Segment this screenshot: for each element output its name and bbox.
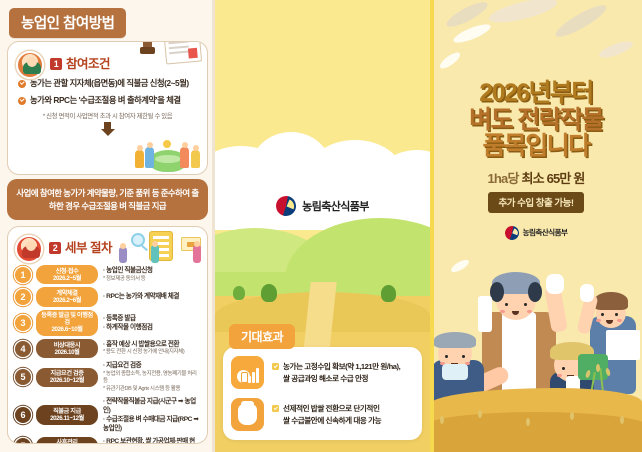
left-panel-title: 농업인 참여방법 [9,8,126,38]
step-row: 3 등록증 발급 및 이행점검 2026.6~10월 등록증 발급 하계작물 이… [15,310,200,336]
step-pill: 지급요건 검증 2026.10~12월 [36,368,98,387]
farmer-glove [546,274,564,294]
steps-list: 1 신청·접수 2026.2~5월 농업인 직불금신청 정보제공 동의서 등 2… [15,265,200,444]
rice-grain-icon [552,0,609,41]
condition-bullets: 농가는 관할 지자체(읍면동)에 직불금 신청(2~5월) 농가와 RPC는 '… [16,78,199,106]
step-number: 1 [15,267,31,283]
section2-header: 2세부 절차 [15,233,200,259]
condition-text: 농가와 RPC는 '수급조절용 벼 출하계약'을 체결 [30,95,181,106]
rice-ear [596,364,600,372]
step-description: 전략작물직불금 지급(시군구 ➡ 농업인) 수급조절용 벼 수매대금 지급(RP… [103,397,200,434]
headline-line-3: 품목입니다 [430,133,642,160]
step-row: 6 직불금 지급 2026.11~12월 전략작물직불금 지급(시군구 ➡ 농업… [15,397,200,434]
farmer-scarf [442,364,468,380]
farmer-hair [594,292,628,310]
check-icon [272,363,279,370]
payment-banner: 사업에 참여한 농가가 계약물량, 기준 품위 등 준수하여 출하한 경우 수급… [7,179,208,220]
step-pill: 사후관리 연중 [36,437,98,445]
step-row: 2 계약체결 2026.2~6월 RPC는 농가와 계약재배 체결 [15,287,200,306]
farmer-avatar-icon [16,51,44,79]
rice-grain-icon [487,0,559,27]
step-number: 6 [15,407,31,423]
step-number: 7 [15,438,31,444]
section1-heading: 참여조건 [66,57,110,71]
farmer-headscarf [434,332,476,348]
rice-ear [440,416,444,424]
step-description: 농업인 직불금신청 정보제공 동의서 등 [103,266,200,283]
effects-title: 기대효과 [229,324,295,349]
farmer-hair [490,282,504,302]
section2-heading: 세부 절차 [65,241,112,255]
effects-card: 농가는 고정수입 확보(약 1,121만 원/ha), 쌀 공급과잉 해소로 수… [223,347,422,440]
rice-ear [620,416,624,424]
section1-header: 1참여조건 [16,49,199,75]
effect-item: 선제적인 밥쌀 전환으로 단기적인 쌀 수급불안에 신속하게 대응 가능 [231,398,414,431]
taegeuk-icon [274,194,298,218]
check-icon [18,80,26,88]
effect-text: 선제적인 밥쌀 전환으로 단기적인 쌀 수급불안에 신속하게 대응 가능 [272,403,381,426]
step-description: 흉작 예상 시 밥쌀용으로 전환 용도 전환 시 신청 농가에 안내(지자체) [103,340,200,357]
section2-title: 2세부 절차 [49,233,112,256]
rice-ear [478,410,482,418]
money-chart-icon [231,356,264,389]
tree-shape [261,284,277,302]
step-number: 3 [15,315,31,331]
step-row: 4 비상대응시 2026.10월 흉작 예상 시 밥쌀용으로 전환 용도 전환 … [15,339,200,358]
condition-bullet: 농가는 관할 지자체(읍면동)에 직불금 신청(2~5월) [18,78,199,89]
headline-line-1: 2026년부터 [430,80,642,107]
hero-headline: 2026년부터 벼도 전략작물 품목입니다 1ha당 최소 65만 원 추가 수… [430,80,642,240]
rice-grain-icon [438,50,463,71]
condition-note: * 신청 면적이 사업면적 초과 시 참여자 제한될 수 있음 [16,111,199,120]
farmer-avatar-icon [15,235,43,263]
condition-bullet: 농가와 RPC는 '수급조절용 벼 출하계약'을 체결 [18,95,199,106]
step-row: 1 신청·접수 2026.2~5월 농업인 직불금신청 정보제공 동의서 등 [15,265,200,284]
step-pill: 계약체결 2026.2~6월 [36,287,98,306]
rice-grain-icon [597,38,635,61]
effect-text: 농가는 고정수입 확보(약 1,121만 원/ha), 쌀 공급과잉 해소로 수… [272,361,400,384]
step-pill: 신청·접수 2026.2~5월 [36,265,98,284]
section1-number: 1 [50,58,62,70]
section2-number: 2 [49,242,61,254]
step-number: 2 [15,289,31,305]
effect-item: 농가는 고정수입 확보(약 1,121만 원/ha), 쌀 공급과잉 해소로 수… [231,356,414,389]
farmer-hair [528,282,542,302]
community-illustration [133,136,201,172]
expected-effects-section: 기대효과 농가는 고정수입 확보(약 1,121만 원/ha), 쌀 공급과잉 … [223,324,422,440]
participation-conditions-card: 1참여조건 농가는 관할 지자체(읍면동)에 직불금 신청(2~5월) 농가와 … [7,41,208,175]
farmers-illustration [430,257,642,452]
paper-prop [606,330,640,360]
tree-shape [233,286,245,300]
ministry-name: 농림축산식품부 [302,198,369,214]
ministry-logo: 농림축산식품부 [430,226,642,240]
step-description: RPC는 농가와 계약재배 체결 [103,292,200,301]
subline-mid: 당 [507,171,518,186]
ministry-name: 농림축산식품부 [523,227,568,238]
step-row: 7 사후관리 연중 RPC 보관현황, 쌀 가공업체·판매 현황 등 점검 [15,437,200,445]
rice-field-layer [430,412,642,452]
brochure-page: 농업인 참여방법 1참여조건 농가는 관할 지자체(읍면동)에 직불금 신청(2… [0,0,642,452]
subline-prefix: 1ha [487,171,507,186]
detailed-procedure-card: 2세부 절차 1 신청·접수 2026.2~5월 농업인 직불금신청 정보제공 … [7,226,208,444]
check-icon [272,405,279,412]
rice-sack-icon [231,398,264,431]
headline-line-2: 벼도 전략작물 [430,107,642,134]
step-pill: 등록증 발급 및 이행점검 2026.6~10월 [36,310,98,336]
left-panel: 농업인 참여방법 1참여조건 농가는 관할 지자체(읍면동)에 직불금 신청(2… [0,0,215,452]
effect-lines: 농가는 고정수입 확보(약 1,121만 원/ha), 쌀 공급과잉 해소로 수… [283,361,400,384]
right-panel: 2026년부터 벼도 전략작물 품목입니다 1ha당 최소 65만 원 추가 수… [430,0,642,452]
rice-ear [526,418,530,426]
step-number: 4 [15,341,31,357]
tree-shape [381,285,396,302]
center-panel: 농림축산식품부 기대효과 [215,0,430,452]
step-pill: 직불금 지급 2026.11~12월 [36,405,98,424]
step-description: 지급요건 검증 농업외 종합소득, 농지전용, 영농폐기물 처리 등 유관기관D… [103,361,200,393]
step-description: 등록증 발급 하계작물 이행점검 [103,314,200,332]
ministry-logo: 농림축산식품부 [215,196,430,216]
subline-emphasis: 최소 65만 원 [521,171,584,186]
step-number: 5 [15,369,31,385]
farmer-towel [478,296,492,332]
check-icon [18,97,26,105]
step-description: RPC 보관현황, 쌀 가공업체·판매 현황 등 점검 [103,437,200,444]
extra-income-badge: 추가 수입 창출 가능! [488,192,583,213]
taegeuk-icon [503,224,520,241]
effect-lines: 선제적인 밥쌀 전환으로 단기적인 쌀 수급불안에 신속하게 대응 가능 [283,403,381,426]
farmer-glove [580,284,594,302]
subline: 1ha당 최소 65만 원 [430,168,642,187]
arrow-down-icon [100,122,115,137]
rice-ear [570,412,574,420]
section1-title: 1참여조건 [50,49,110,72]
step-pill: 비상대응시 2026.10월 [36,339,98,358]
step-row: 5 지급요건 검증 2026.10~12월 지급요건 검증 농업외 종합소득, … [15,361,200,393]
condition-text: 농가는 관할 지자체(읍면동)에 직불금 신청(2~5월) [30,78,189,89]
